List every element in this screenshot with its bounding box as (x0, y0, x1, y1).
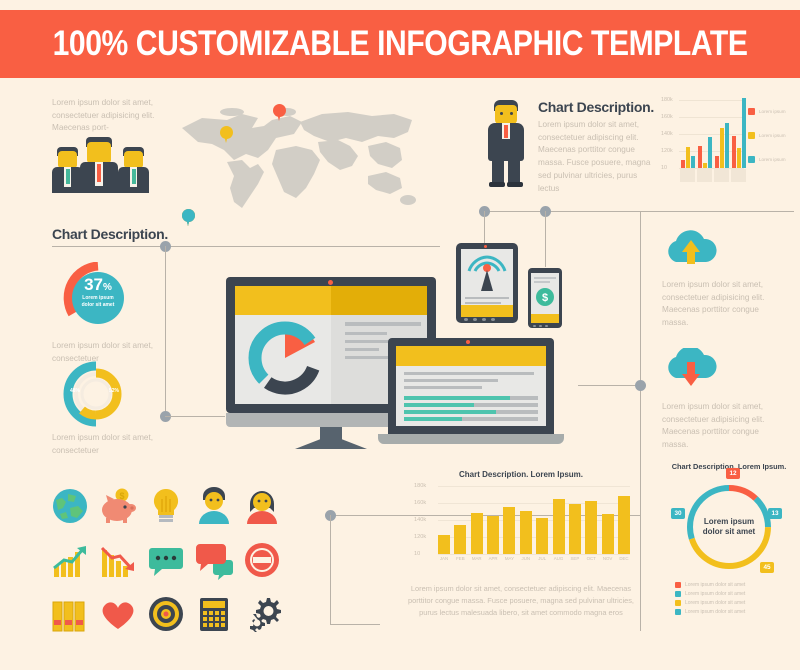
bar-coral (698, 146, 702, 168)
percent-donut-chart: 37% Lorem ipsum dolor sit amet (62, 262, 134, 334)
split-donut-chart: 48% 52% (62, 360, 130, 428)
donut-label-left: 48% (70, 388, 80, 394)
y-tick-label: 180k (414, 483, 426, 489)
legend-item: Lorem ipsum dolor sit amet (675, 591, 745, 597)
bar (585, 501, 597, 554)
x-tick-label: JUN (520, 556, 532, 561)
ring-label-45: 45 (760, 562, 774, 573)
bar-yellow (686, 147, 690, 168)
bottom-right-ring-chart: Chart Description. Lorem Ipsum. Lorem ip… (665, 462, 793, 632)
ring-label-12: 12 (726, 468, 740, 479)
map-pin-yellow[interactable] (220, 126, 233, 139)
bar (454, 525, 466, 554)
map-pin-teal2-legend[interactable] (182, 209, 195, 222)
bar (471, 513, 483, 554)
cloud-upload-block: Lorem ipsum dolor sit amet, consectetuer… (662, 228, 782, 330)
legend-swatch-coral (748, 108, 755, 115)
bar-teal (725, 123, 729, 168)
target-icon[interactable] (146, 594, 186, 634)
tablet-illustration (456, 243, 518, 323)
cloud-upload-icon (662, 228, 720, 266)
cloud-download-paragraph: Lorem ipsum dolor sit amet, consectetuer… (662, 401, 782, 452)
bar-group (732, 98, 746, 168)
bar (602, 514, 614, 554)
chart-description-title-top: Chart Description. (538, 99, 660, 115)
growth-chart-icon[interactable] (50, 540, 90, 580)
x-tick-label: DEC (618, 556, 630, 561)
legend-item: Lorem ipsum dolor sit amet (675, 582, 745, 588)
y-tick-label: 180k (661, 97, 673, 103)
bar (438, 535, 450, 554)
legend-swatch-teal (675, 591, 681, 597)
bar (503, 507, 515, 554)
smartphone-illustration: $ (528, 268, 562, 328)
infographic-page: 100% CUSTOMIZABLE INFOGRAPHIC TEMPLATE L… (0, 0, 800, 670)
legend-item: Lorem ipsum dolor sit amet (675, 609, 745, 615)
top-right-grouped-bar-chart: 180k 160k 140k 120k 10 (662, 100, 744, 182)
x-tick-label: NOV (602, 556, 614, 561)
donut-center-caption: Lorem ipsum dolor sit amet (62, 295, 134, 309)
piggy-bank-icon[interactable]: $ (98, 486, 138, 526)
bottom-paragraph: Lorem ipsum dolor sit amet, consectetuer… (400, 583, 642, 619)
connector-line (165, 416, 225, 417)
connector-line (165, 246, 166, 416)
connector-line (330, 624, 380, 625)
bar-yellow (703, 163, 707, 168)
svg-text:$: $ (542, 292, 548, 304)
speech-bubbles-icon[interactable] (194, 540, 234, 580)
legend-item: Lorem ipsum (748, 108, 786, 115)
bar-coral (732, 136, 736, 168)
bar-coral (715, 156, 719, 168)
x-tick-label: APR (487, 556, 499, 561)
y-tick-label: 140k (661, 131, 673, 137)
legend-label: Lorem ipsum (759, 157, 786, 162)
decline-chart-icon[interactable] (98, 540, 138, 580)
bar-coral (681, 160, 685, 168)
legend-swatch-yellow (748, 132, 755, 139)
bottom-chart-bars (438, 486, 630, 554)
bottom-column-chart: Chart Description. Lorem Ipsum. 180k 160… (412, 470, 630, 570)
legend-label: Lorem ipsum dolor sit amet (685, 609, 745, 615)
bar-teal (708, 137, 712, 168)
bar-group (698, 137, 712, 168)
legend-label: Lorem ipsum dolor sit amet (685, 582, 745, 588)
connector-node (635, 380, 646, 391)
cloud-download-icon (662, 348, 720, 386)
gears-icon[interactable] (242, 594, 282, 634)
y-tick-label: 160k (414, 500, 426, 506)
bar-yellow (720, 128, 724, 168)
top-left-paragraph: Lorem ipsum dolor sit amet, consectetuer… (52, 97, 162, 135)
legend-label: Lorem ipsum (759, 133, 786, 138)
world-map (172, 98, 422, 218)
bar-teal (691, 156, 695, 168)
y-tick-label: 10 (414, 551, 420, 557)
globe-icon[interactable] (50, 486, 90, 526)
x-tick-label: OCT (585, 556, 597, 561)
y-tick-label: 160k (661, 114, 673, 120)
bottom-chart-plot: 180k 160k 140k 120k 10 (438, 486, 630, 554)
businessman-icon (483, 100, 529, 186)
ring-label-13: 13 (768, 508, 782, 519)
bar-group (715, 123, 729, 168)
connector-line (545, 211, 546, 267)
chat-bubble-icon[interactable] (146, 540, 186, 580)
legend-item: Lorem ipsum dolor sit amet (675, 600, 745, 606)
laptop-illustration (378, 338, 564, 448)
male-avatar-icon[interactable] (194, 486, 234, 526)
legend-label: Lorem ipsum dolor sit amet (685, 600, 745, 606)
donut-label-right: 52% (109, 388, 119, 394)
connector-line (484, 211, 794, 212)
cloud-download-block: Lorem ipsum dolor sit amet, consectetuer… (662, 348, 782, 452)
page-title: 100% CUSTOMIZABLE INFOGRAPHIC TEMPLATE (53, 24, 748, 64)
connector-line (578, 385, 640, 386)
bar (487, 516, 499, 554)
bar-teal (742, 98, 746, 168)
bar-yellow (737, 148, 741, 168)
bottom-chart-x-labels: JAN FEB MAR APR MAY JUN JUL AUG SEP OCT … (438, 556, 630, 561)
legend-label: Lorem ipsum dolor sit amet (685, 591, 745, 597)
female-avatar-icon[interactable] (242, 486, 282, 526)
calculator-icon[interactable] (194, 594, 234, 634)
legend-item: Lorem ipsum (748, 156, 786, 163)
donut2-caption-left: Lorem ipsum dolor sit amet, consectetuer (52, 432, 162, 457)
bar (553, 499, 565, 554)
y-tick-label: 120k (414, 534, 426, 540)
bar (536, 518, 548, 554)
legend-swatch-coral (675, 582, 681, 588)
blocked-sign-icon[interactable] (242, 540, 282, 580)
legend-swatch-yellow (675, 600, 681, 606)
legend-swatch-teal (748, 156, 755, 163)
heart-icon[interactable] (98, 594, 138, 634)
cloud-upload-paragraph: Lorem ipsum dolor sit amet, consectetuer… (662, 279, 782, 330)
y-tick-label: 120k (661, 148, 673, 154)
x-tick-label: JAN (438, 556, 450, 561)
legend-swatch-teal2 (675, 609, 681, 615)
y-tick-label: 140k (414, 517, 426, 523)
lightbulb-icon[interactable] (146, 486, 186, 526)
chart-description-paragraph-top: Lorem ipsum dolor sit amet, consectetuer… (538, 119, 660, 195)
three-businesspeople-icon (52, 133, 157, 193)
x-tick-label: MAY (503, 556, 515, 561)
connector-line (330, 515, 331, 625)
bar (569, 504, 581, 554)
ring-chart-center-text: Lorem ipsum dolor sit amet (697, 517, 761, 537)
connector-line (640, 211, 641, 631)
icon-grid: $ (50, 486, 282, 642)
bar (618, 496, 630, 554)
chart-description-title-left: Chart Description. (52, 226, 168, 242)
legend-item: Lorem ipsum (748, 132, 786, 139)
connector-line (52, 246, 440, 247)
y-tick-label: 10 (661, 165, 667, 171)
monitor-camera-light (328, 280, 333, 285)
ring-chart-legend: Lorem ipsum dolor sit amet Lorem ipsum d… (675, 582, 745, 618)
file-folders-icon[interactable] (50, 594, 90, 634)
top-chart-legend: Lorem ipsum Lorem ipsum Lorem ipsum (748, 108, 786, 180)
x-tick-label: AUG (553, 556, 565, 561)
ring-label-30: 30 (671, 508, 685, 519)
x-tick-label: SEP (569, 556, 581, 561)
page-header: 100% CUSTOMIZABLE INFOGRAPHIC TEMPLATE (0, 10, 800, 78)
legend-label: Lorem ipsum (759, 109, 786, 114)
bar (520, 511, 532, 554)
x-tick-label: FEB (454, 556, 466, 561)
ring-chart-graphic: Lorem ipsum dolor sit amet 12 13 45 30 (684, 482, 774, 572)
bottom-chart-title: Chart Description. Lorem Ipsum. (412, 470, 630, 479)
x-tick-label: JUL (536, 556, 548, 561)
bar-group (681, 147, 695, 168)
map-pin-coral[interactable] (273, 104, 286, 117)
donut-percent-value: 37% (62, 276, 134, 293)
x-tick-label: MAR (471, 556, 483, 561)
